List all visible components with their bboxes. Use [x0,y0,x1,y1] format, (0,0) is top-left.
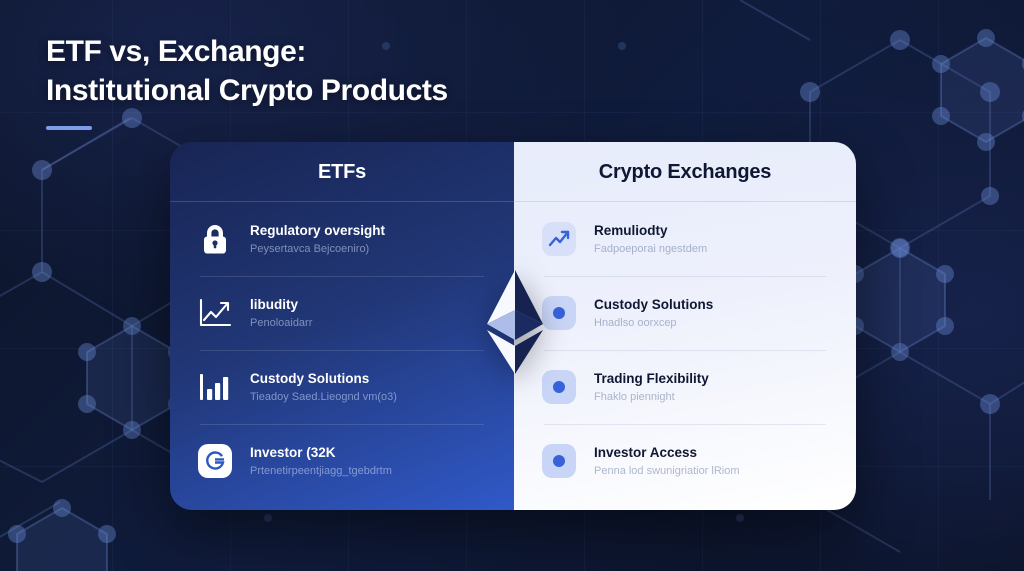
list-item-text: libudity Penoloaidarr [250,296,312,331]
chip-dot [553,307,565,319]
title-accent-rule [46,126,92,130]
list-item-subtitle: Penoloaidarr [250,316,312,331]
exchange-panel-body: Remuliodty Fadpoeporai ngestdem Custody … [514,202,856,498]
list-item[interactable]: libudity Penoloaidarr [196,276,488,350]
list-item-text: Regulatory oversight Peysertavca Bejcoen… [250,222,385,257]
list-item-text: Trading Flexibility Fhaklo piennight [594,370,709,405]
list-item-text: Custody Solutions Tieadoy Saed.Lieognd v… [250,370,397,405]
bar-chart-icon [196,368,234,406]
trending-up-chip [542,222,576,256]
list-item-text: Remuliodty Fadpoeporai ngestdem [594,222,707,257]
list-item-text: Investor (32K Prtenetirpeentjiagg_tgebdr… [250,444,392,479]
etf-panel: ETFs Regulatory oversight Peysert [170,142,514,510]
list-item-title: libudity [250,297,298,312]
etf-panel-title: ETFs [318,161,366,184]
dot-chip [542,444,576,478]
dot-chip-icon [540,442,578,480]
list-item-text: Investor Access Penna lod swunigriatior … [594,444,740,479]
app-square-icon [196,442,234,480]
list-item-subtitle: Fadpoeporai ngestdem [594,242,707,257]
etf-panel-body: Regulatory oversight Peysertavca Bejcoen… [170,202,514,498]
list-item-title: Investor (32K [250,445,336,460]
list-item-text: Custody Solutions Hnadlso oorxcep [594,296,713,331]
page-title: ETF vs, Exchange: Institutional Crypto P… [46,32,448,130]
line-chart-icon [196,294,234,332]
list-item[interactable]: Custody Solutions Hnadlso oorxcep [540,276,830,350]
list-item-subtitle: Fhaklo piennight [594,390,709,405]
etf-panel-header: ETFs [170,142,514,202]
trending-up-icon [540,220,578,258]
dot-chip [542,370,576,404]
list-item[interactable]: Regulatory oversight Peysertavca Bejcoen… [196,202,488,276]
list-item-subtitle: Prtenetirpeentjiagg_tgebdrtm [250,464,392,479]
app-square-glyph [198,444,232,478]
list-item[interactable]: Custody Solutions Tieadoy Saed.Lieognd v… [196,350,488,424]
exchange-panel: Crypto Exchanges Remuliodty F [514,142,856,510]
list-item[interactable]: Remuliodty Fadpoeporai ngestdem [540,202,830,276]
list-item-title: Custody Solutions [594,297,713,312]
chip-dot [553,381,565,393]
list-item[interactable]: Investor (32K Prtenetirpeentjiagg_tgebdr… [196,424,488,498]
title-line-2: Institutional Crypto Products [46,71,448,110]
chip-dot [553,455,565,467]
list-item[interactable]: Trading Flexibility Fhaklo piennight [540,350,830,424]
exchange-panel-title: Crypto Exchanges [599,161,771,184]
title-line-1: ETF vs, Exchange: [46,32,448,71]
lock-icon [196,220,234,258]
ethereum-logo [484,268,546,376]
list-item-subtitle: Hnadlso oorxcep [594,316,713,331]
list-item-subtitle: Penna lod swunigriatior lRiom [594,464,740,479]
exchange-panel-header: Crypto Exchanges [514,142,856,202]
list-item-title: Remuliodty [594,223,668,238]
list-item-title: Trading Flexibility [594,371,709,386]
infographic-canvas: ETF vs, Exchange: Institutional Crypto P… [0,0,1024,571]
list-item-title: Custody Solutions [250,371,369,386]
list-item-subtitle: Tieadoy Saed.Lieognd vm(o3) [250,390,397,405]
list-item-subtitle: Peysertavca Bejcoeniro) [250,242,385,257]
dot-chip [542,296,576,330]
list-item-title: Investor Access [594,445,697,460]
list-item[interactable]: Investor Access Penna lod swunigriatior … [540,424,830,498]
list-item-title: Regulatory oversight [250,223,385,238]
